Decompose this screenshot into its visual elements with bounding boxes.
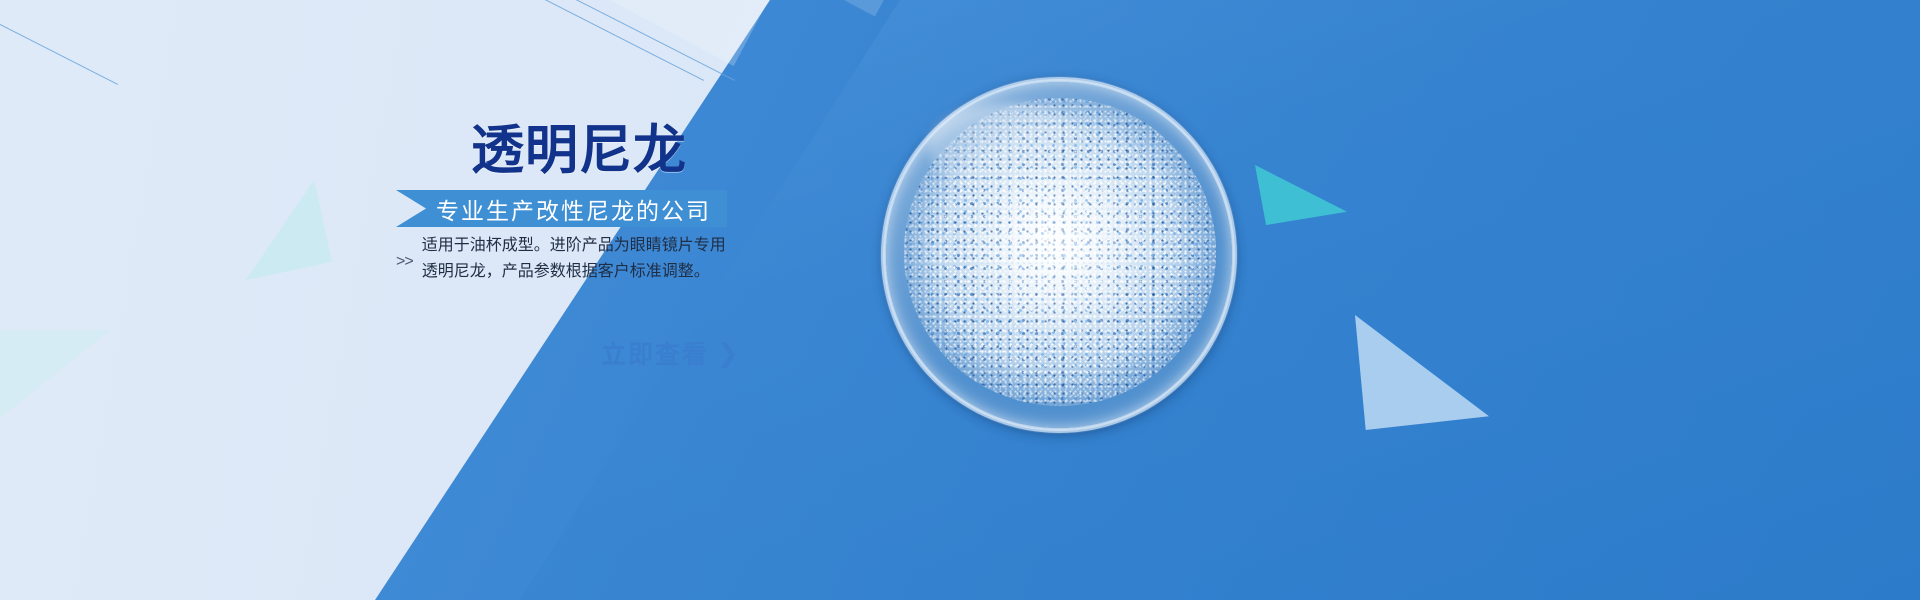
banner-ribbon: 专业生产改性尼龙的公司 — [396, 190, 727, 227]
chevron-right-icon: ❯ — [717, 338, 739, 369]
description-line-1: 适用于油杯成型。进阶产品为眼睛镜片专用 — [422, 233, 726, 259]
banner-copy: 透明尼龙 专业生产改性尼龙的公司 >> 适用于油杯成型。进阶产品为眼睛镜片专用 … — [0, 0, 1920, 600]
view-now-label: 立即查看 — [601, 335, 709, 371]
double-chevron-icon: >> — [396, 253, 413, 271]
banner-headline: 透明尼龙 — [471, 124, 687, 177]
promo-banner: 透明尼龙 专业生产改性尼龙的公司 >> 适用于油杯成型。进阶产品为眼睛镜片专用 … — [0, 0, 1920, 600]
view-now-button[interactable]: 立即查看 ❯ — [601, 335, 739, 371]
banner-description-row: >> 适用于油杯成型。进阶产品为眼睛镜片专用 透明尼龙，产品参数根据客户标准调整… — [396, 233, 726, 285]
ribbon-label: 专业生产改性尼龙的公司 — [436, 192, 711, 226]
description-line-2: 透明尼龙，产品参数根据客户标准调整。 — [422, 259, 726, 285]
banner-description: 适用于油杯成型。进阶产品为眼睛镜片专用 透明尼龙，产品参数根据客户标准调整。 — [422, 233, 726, 285]
